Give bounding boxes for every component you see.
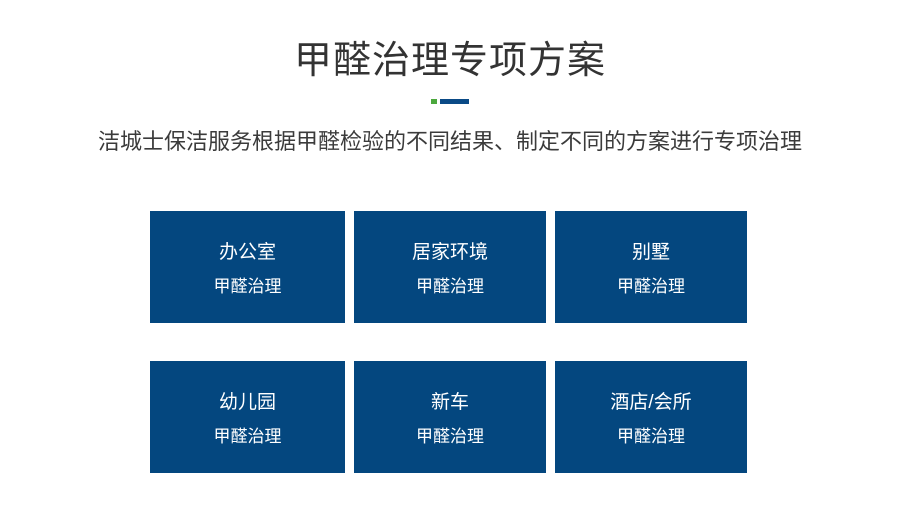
card-subtitle: 甲醛治理 [416,425,484,449]
service-card[interactable]: 办公室 甲醛治理 [150,211,345,323]
card-title: 新车 [431,390,469,416]
card-title: 幼儿园 [219,390,276,416]
page-subtitle: 洁城士保洁服务根据甲醛检验的不同结果、制定不同的方案进行专项治理 [0,127,900,157]
service-card[interactable]: 居家环境 甲醛治理 [354,211,546,323]
card-subtitle: 甲醛治理 [214,425,282,449]
square-dot-icon [431,99,437,104]
card-title: 办公室 [219,240,276,266]
card-subtitle: 甲醛治理 [617,275,685,299]
card-subtitle: 甲醛治理 [617,425,685,449]
service-card[interactable]: 新车 甲醛治理 [354,361,546,473]
header-block: 甲醛治理专项方案 洁城士保洁服务根据甲醛检验的不同结果、制定不同的方案进行专项治… [0,36,900,157]
page-title: 甲醛治理专项方案 [0,36,900,86]
card-title: 酒店/会所 [610,390,691,416]
service-card[interactable]: 别墅 甲醛治理 [555,211,747,323]
card-subtitle: 甲醛治理 [214,275,282,299]
service-card[interactable]: 幼儿园 甲醛治理 [150,361,345,473]
service-card-grid: 办公室 甲醛治理 居家环境 甲醛治理 别墅 甲醛治理 幼儿园 甲醛治理 新车 甲… [150,211,747,473]
service-card[interactable]: 酒店/会所 甲醛治理 [555,361,747,473]
card-title: 别墅 [632,240,670,266]
title-divider [0,98,900,104]
card-subtitle: 甲醛治理 [416,275,484,299]
card-title: 居家环境 [412,240,488,266]
slide-canvas: 甲醛治理专项方案 洁城士保洁服务根据甲醛检验的不同结果、制定不同的方案进行专项治… [0,0,900,531]
divider-bar [440,99,469,104]
